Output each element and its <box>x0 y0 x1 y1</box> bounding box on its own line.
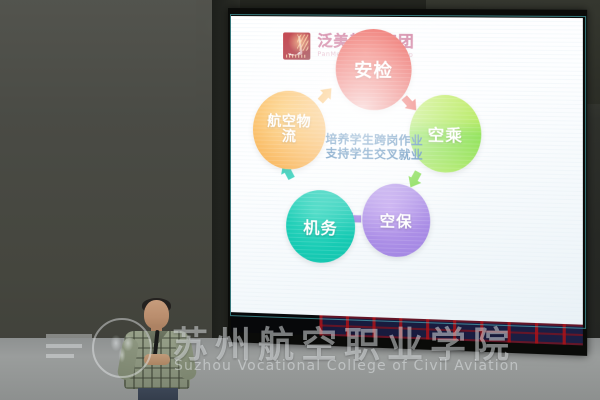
screenshot-stage: 泛美教育集团 PanMerit Education Group 安检 <box>0 0 600 400</box>
projection-screen: 泛美教育集团 PanMerit Education Group 安检 <box>228 8 587 356</box>
cycle-node-logistics: 航空物 流 <box>253 90 326 170</box>
cycle-node-logistics-label: 航空物 流 <box>267 115 311 146</box>
presenter-hands <box>144 354 170 365</box>
presenter-head <box>144 300 169 329</box>
cycle-node-maintenance: 机务 <box>286 189 355 264</box>
cycle-node-air-guard: 空保 <box>362 183 430 258</box>
panmerit-flame-logo-icon <box>283 32 310 59</box>
slide-center-caption: 培养学生跨岗作业 支持学生交叉就业 <box>326 132 439 163</box>
slide-center-caption-line2: 支持学生交叉就业 <box>326 146 439 163</box>
presentation-slide: 泛美教育集团 PanMerit Education Group 安检 <box>231 16 583 325</box>
presenter <box>118 300 200 400</box>
cycle-node-logistics-label-line2: 流 <box>267 130 311 146</box>
presenter-legs <box>138 388 178 400</box>
cycle-node-security: 安检 <box>336 29 412 111</box>
screen-surface: 泛美教育集团 PanMerit Education Group 安检 <box>231 16 583 325</box>
cycle-node-maintenance-label: 机务 <box>303 214 338 239</box>
cycle-node-security-label: 安检 <box>354 56 393 83</box>
cycle-node-air-guard-label: 空保 <box>380 209 413 231</box>
cycle-node-logistics-label-line1: 航空物 <box>267 115 311 131</box>
arrow-logistics-to-security <box>315 83 338 106</box>
